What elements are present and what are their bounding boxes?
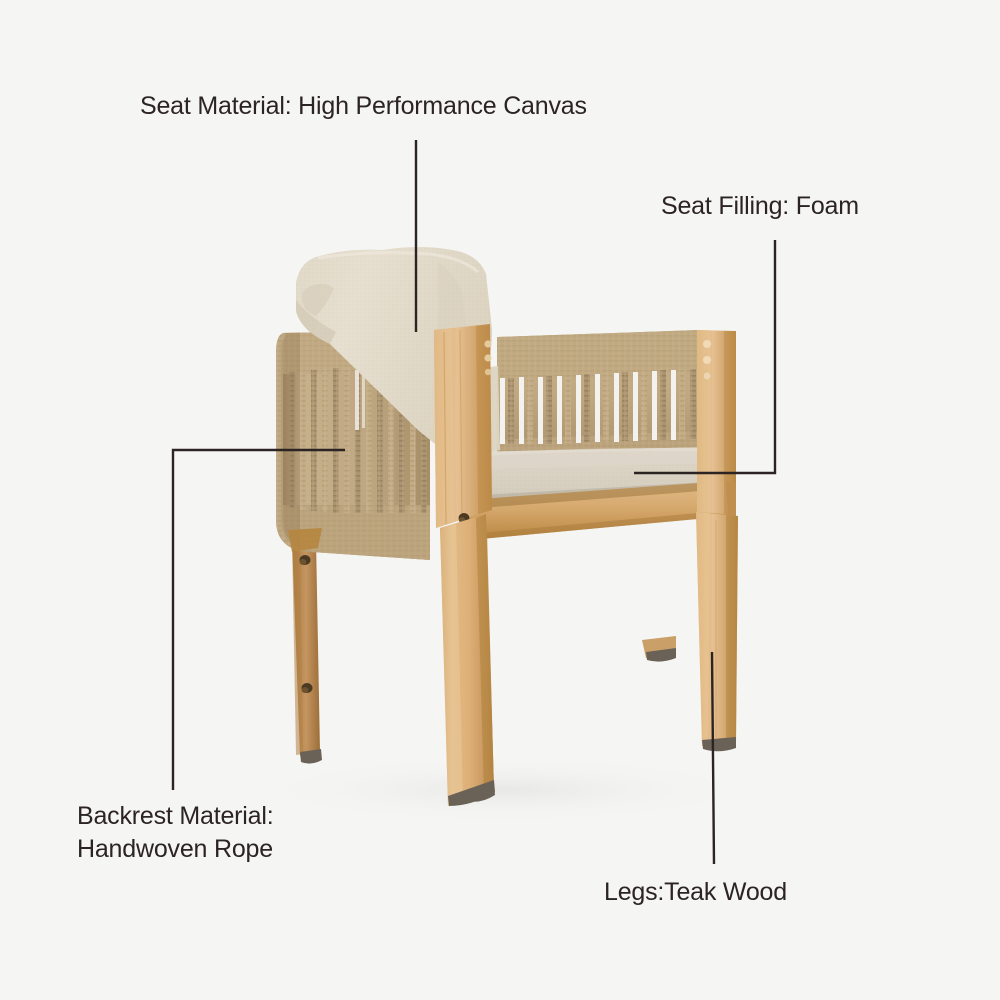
leader-seat-filling: [634, 240, 775, 473]
leader-legs: [712, 652, 714, 864]
leader-backrest: [173, 450, 345, 790]
diagram-canvas: Seat Material: High Performance Canvas S…: [0, 0, 1000, 1000]
leader-lines: [0, 0, 1000, 1000]
